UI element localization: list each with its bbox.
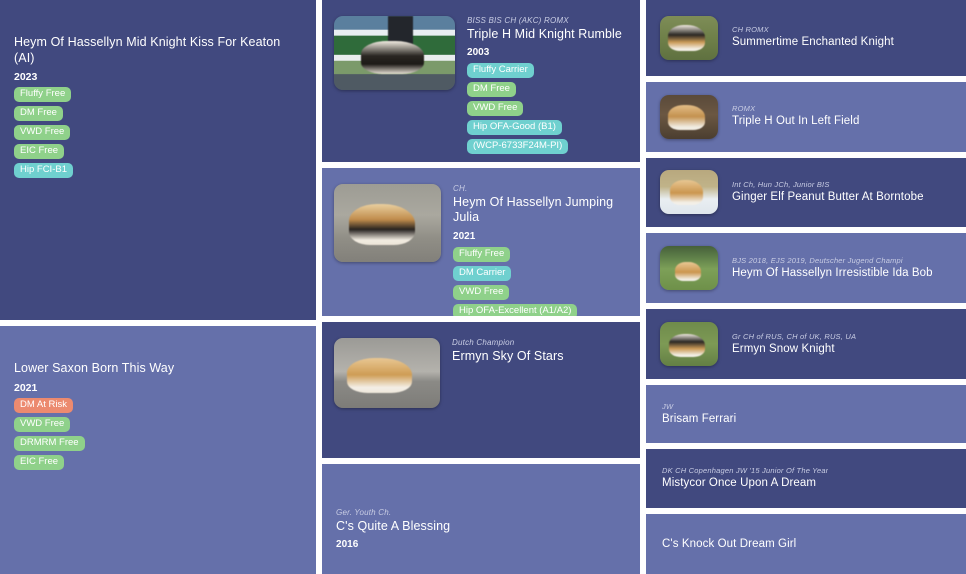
dog-name: Summertime Enchanted Knight [732,36,894,50]
dog-name: C's Quite A Blessing [336,519,450,535]
dog-name: C's Knock Out Dream Girl [662,538,796,552]
health-badge-list: Fluffy Free DM Carrier VWD Free Hip OFA-… [453,247,630,316]
dog-name: Triple H Mid Knight Rumble [467,27,622,43]
title-prefix: Dutch Champion [452,338,564,348]
health-badge[interactable]: (WCP-6733F24M-PI) [467,139,568,154]
title-prefix: Ger. Youth Ch. [336,508,450,518]
health-badge[interactable]: EIC Free [14,455,64,470]
health-badge[interactable]: VWD Free [467,101,523,116]
health-badge[interactable]: VWD Free [453,285,509,300]
health-badge[interactable]: Fluffy Carrier [467,63,534,78]
pedigree-card-gen2-2[interactable]: Dutch Champion Ermyn Sky Of Stars [322,322,640,458]
generation-1-column: Heym Of Hassellyn Mid Knight Kiss For Ke… [0,0,316,574]
title-prefix: BJS 2018, EJS 2019, Deutscher Jugend Cha… [732,256,933,265]
title-prefix: CH ROMX [732,25,894,34]
dog-name: Mistycor Once Upon A Dream [662,477,828,491]
dog-name: Heym Of Hassellyn Jumping Julia [453,195,630,226]
title-prefix: CH. [453,184,630,194]
dog-name: Lower Saxon Born This Way [14,361,302,377]
health-badge[interactable]: VWD Free [14,125,70,140]
dog-photo [660,246,718,290]
health-badge[interactable]: Hip OFA-Good (B1) [467,120,562,135]
pedigree-card-gen3-0[interactable]: CH ROMX Summertime Enchanted Knight [646,0,966,76]
health-badge[interactable]: EIC Free [14,144,64,159]
dog-name: Ginger Elf Peanut Butter At Borntobe [732,191,924,205]
health-badge[interactable]: Fluffy Free [14,87,71,102]
health-badge[interactable]: DRMRM Free [14,436,85,451]
dog-photo [334,338,440,408]
dog-name: Heym Of Hassellyn Irresistible Ida Bob [732,267,933,281]
pedigree-card-gen3-1[interactable]: ROMX Triple H Out In Left Field [646,82,966,152]
health-badge[interactable]: DM Carrier [453,266,511,281]
pedigree-card-gen3-6[interactable]: DK CH Copenhagen JW '15 Junior Of The Ye… [646,449,966,507]
health-badge-list: DM At Risk VWD Free DRMRM Free EIC Free [14,398,302,470]
pedigree-card-gen1-1[interactable]: Lower Saxon Born This Way 2021 DM At Ris… [0,326,316,574]
birth-year: 2023 [14,71,302,83]
pedigree-card-gen2-3[interactable]: Ger. Youth Ch. C's Quite A Blessing 2016 [322,464,640,574]
health-badge[interactable]: Hip OFA-Excellent (A1/A2) [453,304,577,316]
title-prefix: DK CH Copenhagen JW '15 Junior Of The Ye… [662,466,828,475]
dog-name: Triple H Out In Left Field [732,115,859,129]
dog-photo [660,95,718,139]
title-prefix: ROMX [732,104,859,113]
pedigree-card-gen2-0[interactable]: BISS BIS CH (AKC) ROMX Triple H Mid Knig… [322,0,640,162]
pedigree-card-gen3-5[interactable]: JW Brisam Ferrari [646,385,966,443]
dog-name: Ermyn Sky Of Stars [452,349,564,365]
pedigree-card-gen3-4[interactable]: Gr CH of RUS, CH of UK, RUS, UA Ermyn Sn… [646,309,966,379]
dog-photo [660,170,718,214]
health-badge-list: Fluffy Carrier DM Free VWD Free Hip OFA-… [467,63,622,154]
birth-year: 2016 [336,539,450,550]
dog-name: Ermyn Snow Knight [732,343,856,357]
pedigree-card-gen3-3[interactable]: BJS 2018, EJS 2019, Deutscher Jugend Cha… [646,233,966,303]
dog-photo [334,184,441,262]
pedigree-card-gen2-1[interactable]: CH. Heym Of Hassellyn Jumping Julia 2021… [322,168,640,316]
health-badge[interactable]: DM Free [467,82,516,97]
health-badge[interactable]: DM At Risk [14,398,73,413]
generation-2-column: BISS BIS CH (AKC) ROMX Triple H Mid Knig… [322,0,640,574]
dog-name: Heym Of Hassellyn Mid Knight Kiss For Ke… [14,35,302,66]
pedigree-chart: Heym Of Hassellyn Mid Knight Kiss For Ke… [0,0,966,574]
health-badge[interactable]: Hip FCI-B1 [14,163,73,178]
health-badge[interactable]: VWD Free [14,417,70,432]
birth-year: 2021 [453,231,630,242]
pedigree-card-gen3-2[interactable]: Int Ch, Hun JCh, Junior BIS Ginger Elf P… [646,158,966,228]
dog-photo [660,322,718,366]
title-prefix: Int Ch, Hun JCh, Junior BIS [732,180,924,189]
birth-year: 2021 [14,382,302,394]
title-prefix: JW [662,402,736,411]
generation-3-column: CH ROMX Summertime Enchanted Knight ROMX… [646,0,966,574]
dog-photo [660,16,718,60]
birth-year: 2003 [467,47,622,58]
pedigree-card-gen1-0[interactable]: Heym Of Hassellyn Mid Knight Kiss For Ke… [0,0,316,320]
health-badge-list: Fluffy Free DM Free VWD Free EIC Free Hi… [14,87,302,178]
title-prefix: Gr CH of RUS, CH of UK, RUS, UA [732,332,856,341]
title-prefix: BISS BIS CH (AKC) ROMX [467,16,622,26]
dog-name: Brisam Ferrari [662,413,736,427]
pedigree-card-gen3-7[interactable]: C's Knock Out Dream Girl [646,514,966,574]
health-badge[interactable]: DM Free [14,106,63,121]
health-badge[interactable]: Fluffy Free [453,247,510,262]
dog-photo [334,16,455,90]
